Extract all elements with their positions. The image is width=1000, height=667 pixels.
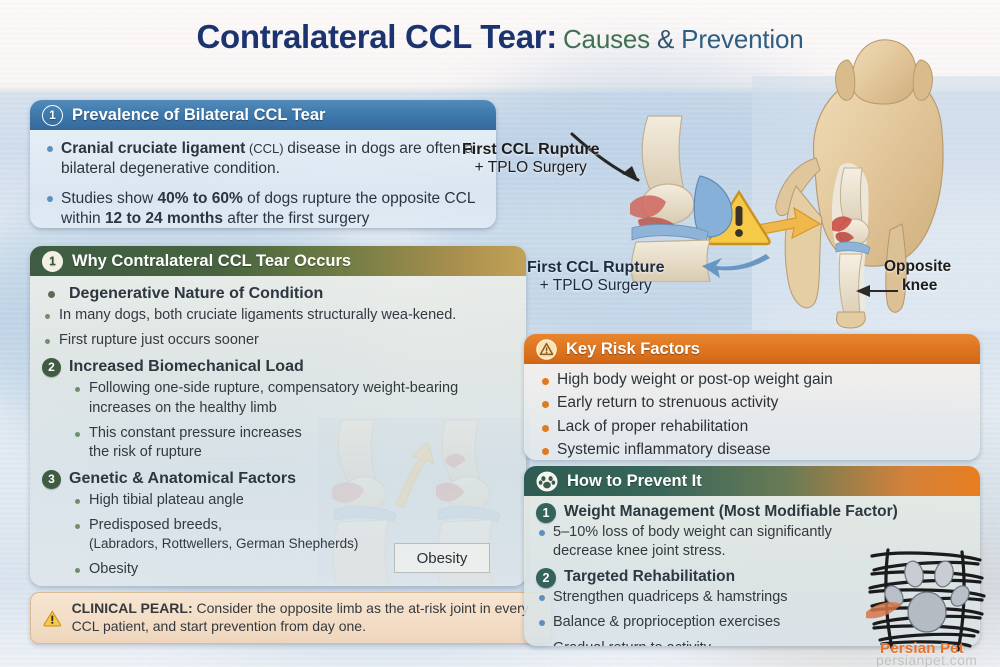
card-prevalence-header: 1 Prevalence of Bilateral CCL Tear bbox=[30, 100, 496, 130]
list-item: High tibial plateau angle bbox=[72, 491, 514, 510]
label-line-2: knee bbox=[902, 277, 951, 296]
prevent-sub-list: 5–10% loss of body weight can significan… bbox=[536, 523, 968, 561]
list-item: Cranial cruciate ligament (CCL) disease … bbox=[44, 139, 482, 180]
breed-list: (Labradors, Rottwellers, German Shepherd… bbox=[89, 536, 358, 551]
list-item: Following one-side rupture, compensatory… bbox=[72, 379, 514, 417]
label-opposite-knee: Opposite knee bbox=[884, 258, 951, 295]
card-why-header: 1 Why Contralateral CCL Tear Occurs bbox=[30, 246, 526, 276]
list-item: Early return to strenuous activity bbox=[538, 393, 966, 413]
bullet-segment: Studies show bbox=[61, 190, 158, 207]
label-line-2: + TPLO Surgery bbox=[527, 277, 664, 296]
page-title-sub: Causes & Prevention bbox=[563, 24, 804, 54]
why-sub-list: Following one-side rupture, compensatory… bbox=[72, 379, 514, 462]
list-item: This constant pressure increases the ris… bbox=[72, 424, 324, 462]
prevent-item-title: Targeted Rehabilitation bbox=[564, 567, 735, 587]
opposite-knee-arrow-icon bbox=[856, 282, 898, 300]
section-number-badge: 1 bbox=[42, 251, 63, 272]
why-sub-list: In many dogs, both cruciate ligaments st… bbox=[42, 306, 514, 350]
watermark-subtext: persianpet.com bbox=[876, 652, 977, 667]
page-title-prevention: Prevention bbox=[681, 24, 803, 54]
list-item: Strengthen quadriceps & hamstrings bbox=[536, 588, 968, 607]
infographic-page: Contralateral CCL Tear:Causes & Preventi… bbox=[0, 0, 1000, 667]
card-why-body: Degenerative Nature of Condition In many… bbox=[30, 276, 526, 586]
card-risk-header: Key Risk Factors bbox=[524, 334, 980, 364]
label-line-1: Opposite bbox=[884, 258, 951, 277]
section-number-badge: 3 bbox=[42, 470, 61, 489]
list-item: Balance & proprioception exercises bbox=[536, 613, 968, 632]
list-item: Gradual return to activity bbox=[536, 639, 968, 647]
card-prevent-header: How to Prevent It bbox=[524, 466, 980, 496]
prevent-sub-list: Strengthen quadriceps & hamstrings Balan… bbox=[536, 588, 968, 646]
card-prevent-body: 1 Weight Management (Most Modifiable Fac… bbox=[524, 496, 980, 646]
list-item: Systemic inflammatory disease bbox=[538, 440, 966, 460]
page-title-main: Contralateral CCL Tear: bbox=[197, 18, 557, 55]
risk-bullet-list: High body weight or post-op weight gain … bbox=[538, 370, 966, 460]
bullet-segment: Cranial cruciate ligament bbox=[61, 140, 245, 157]
list-item: 1 Weight Management (Most Modifiable Fac… bbox=[536, 502, 968, 523]
list-item: Studies show 40% to 60% of dogs rupture … bbox=[44, 189, 482, 228]
prevent-item-title: Weight Management (Most Modifiable Facto… bbox=[564, 502, 898, 522]
card-risk-body: High body weight or post-op weight gain … bbox=[524, 364, 980, 460]
clinical-pearl-label: CLINICAL PEARL: bbox=[72, 600, 193, 616]
why-item-title: Increased Biomechanical Load bbox=[69, 356, 304, 377]
label-line-1: First CCL Rupture bbox=[527, 258, 664, 277]
card-risk-title: Key Risk Factors bbox=[566, 340, 700, 359]
bullet-segment: (CCL) bbox=[245, 141, 287, 156]
card-why-contralateral-tear: 1 Why Contralateral CCL Tear Occurs Dege… bbox=[30, 246, 526, 586]
knee-anatomy-illustration-top bbox=[560, 112, 790, 282]
dog-illustration bbox=[752, 8, 1000, 330]
list-item: 2 Targeted Rehabilitation bbox=[536, 567, 968, 588]
warning-triangle-icon bbox=[536, 339, 557, 360]
warning-triangle-icon bbox=[706, 188, 772, 246]
card-why-title: Why Contralateral CCL Tear Occurs bbox=[72, 252, 351, 271]
list-item: Lack of proper rehabilitation bbox=[538, 417, 966, 437]
card-prevent-title: How to Prevent It bbox=[567, 472, 702, 491]
warning-triangle-icon bbox=[43, 605, 62, 632]
section-number-badge: 1 bbox=[536, 503, 556, 523]
prevalence-bullet-list: Cranial cruciate ligament (CCL) disease … bbox=[44, 139, 482, 228]
bullet-dot-icon bbox=[48, 291, 55, 298]
section-number-badge: 2 bbox=[42, 358, 61, 377]
page-title: Contralateral CCL Tear:Causes & Preventi… bbox=[0, 18, 1000, 56]
why-item-title: Degenerative Nature of Condition bbox=[69, 283, 323, 304]
obesity-label-tag: Obesity bbox=[394, 543, 490, 573]
paw-icon bbox=[536, 471, 558, 492]
list-item: 5–10% loss of body weight can significan… bbox=[536, 523, 873, 561]
list-item: 2 Increased Biomechanical Load bbox=[42, 356, 514, 377]
list-item: In many dogs, both cruciate ligaments st… bbox=[42, 306, 514, 325]
list-item: First rupture just occurs sooner bbox=[42, 331, 514, 350]
breed-label: Predisposed breeds, bbox=[89, 517, 222, 533]
bullet-segment: after the first surgery bbox=[223, 210, 369, 227]
bullet-segment: 12 to 24 months bbox=[105, 210, 223, 227]
card-how-to-prevent: How to Prevent It 1 Weight Management (M… bbox=[524, 466, 980, 646]
why-item-title: Genetic & Anatomical Factors bbox=[69, 468, 296, 489]
page-title-causes: Causes bbox=[563, 24, 650, 54]
card-prevalence: 1 Prevalence of Bilateral CCL Tear Crani… bbox=[30, 100, 496, 228]
list-item: Degenerative Nature of Condition bbox=[42, 283, 514, 304]
card-key-risk-factors: Key Risk Factors High body weight or pos… bbox=[524, 334, 980, 460]
list-item: High body weight or post-op weight gain bbox=[538, 370, 966, 390]
bullet-segment: 40% to 60% bbox=[158, 190, 243, 207]
clinical-pearl-box: CLINICAL PEARL: Consider the opposite li… bbox=[30, 592, 552, 644]
list-item: 3 Genetic & Anatomical Factors bbox=[42, 468, 514, 489]
clinical-pearl-text: CLINICAL PEARL: Consider the opposite li… bbox=[72, 600, 539, 636]
page-title-amp: & bbox=[657, 24, 674, 54]
label-first-ccl-rupture-bottom: First CCL Rupture + TPLO Surgery bbox=[527, 258, 664, 296]
section-number-badge: 1 bbox=[42, 105, 63, 126]
section-number-badge: 2 bbox=[536, 568, 556, 588]
card-prevalence-body: Cranial cruciate ligament (CCL) disease … bbox=[30, 130, 496, 228]
card-prevalence-title: Prevalence of Bilateral CCL Tear bbox=[72, 106, 325, 125]
